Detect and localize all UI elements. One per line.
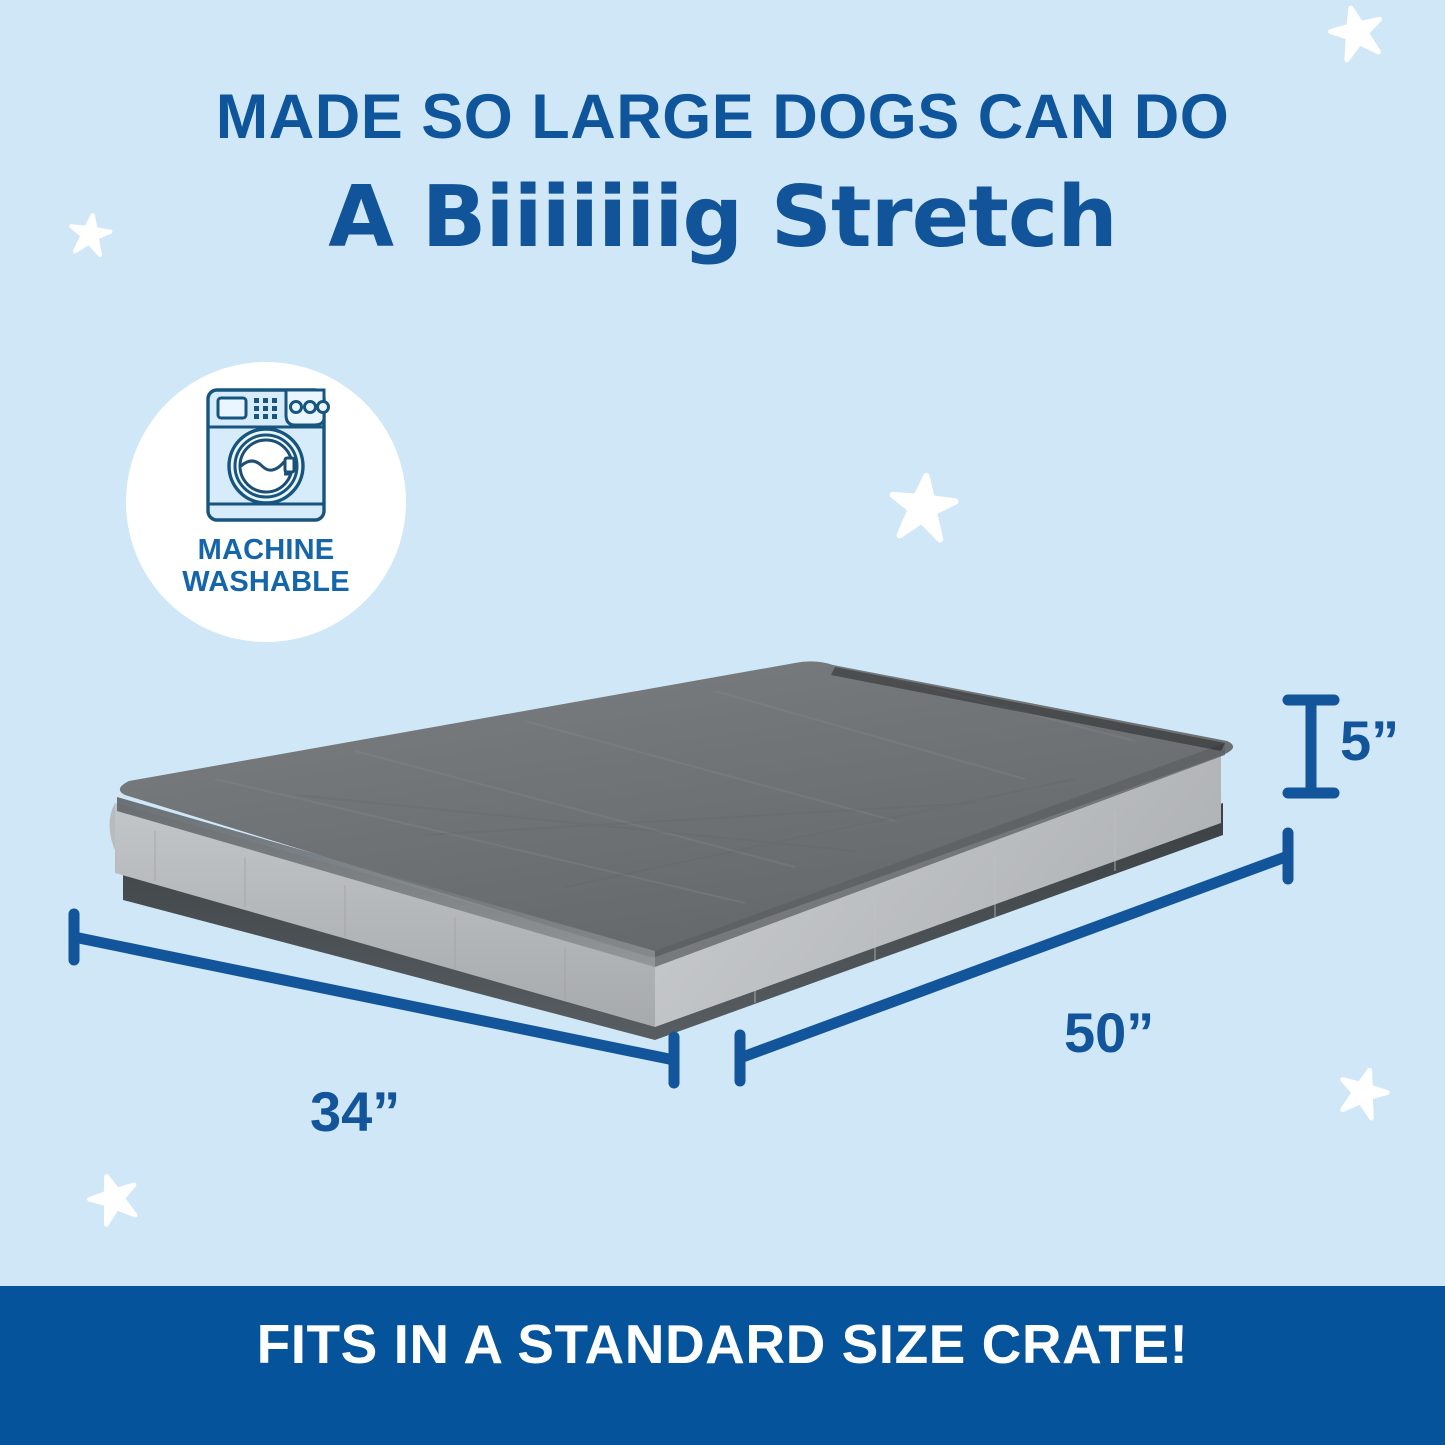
machine-washable-badge: MACHINE WASHABLE [126, 362, 406, 642]
star-bottom-right-icon [1331, 1061, 1395, 1125]
dimension-line-height [1288, 700, 1334, 793]
dimension-label-depth: 50” [1064, 1000, 1154, 1065]
star-middle-icon [885, 470, 962, 547]
headline-eyebrow: MADE SO LARGE DOGS CAN DO [0, 86, 1445, 149]
headline-block: MADE SO LARGE DOGS CAN DO A Biiiiiiig St… [0, 86, 1445, 262]
banner-text: FITS IN A STANDARD SIZE CRATE! [0, 1312, 1445, 1376]
badge-label-line2: WASHABLE [182, 566, 350, 598]
washing-machine-icon [200, 384, 332, 526]
dimension-label-height: 5” [1340, 708, 1399, 773]
star-top-right-icon [1323, 0, 1391, 67]
badge-label-line1: MACHINE [182, 534, 350, 566]
bottom-banner: FITS IN A STANDARD SIZE CRATE! [0, 1286, 1445, 1445]
dimension-label-width: 34” [310, 1079, 400, 1144]
badge-label: MACHINE WASHABLE [182, 534, 350, 599]
page-title: A Biiiiiiig Stretch [0, 173, 1445, 262]
infographic-canvas: MADE SO LARGE DOGS CAN DO A Biiiiiiig St… [0, 0, 1445, 1445]
star-bottom-left-icon [81, 1166, 147, 1232]
